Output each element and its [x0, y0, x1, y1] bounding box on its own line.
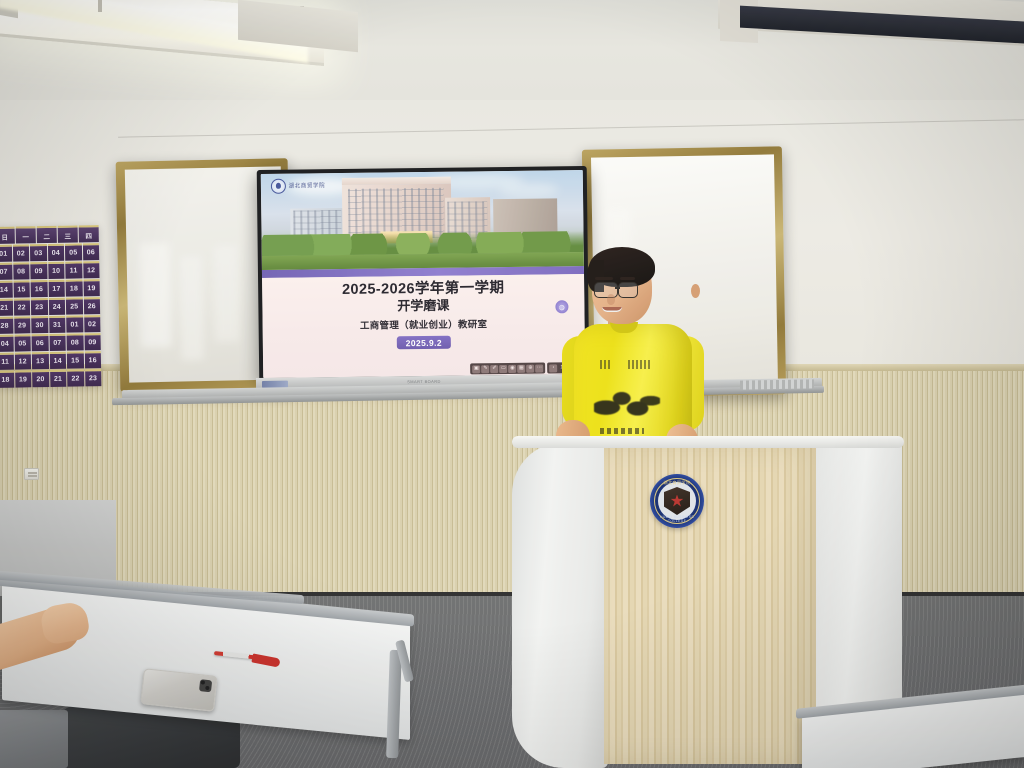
- wall-chart-cell: 23: [85, 369, 102, 386]
- slide-grid-icon[interactable]: ▦: [517, 364, 525, 372]
- student-desk-right[interactable]: [796, 688, 1024, 768]
- slide-title-line2: 开学磨课: [397, 298, 449, 314]
- presenter-mouth: [602, 307, 622, 312]
- wall-chart-cell: 05: [14, 334, 31, 351]
- wall-chart-row: 07 08 09 10 11 12: [0, 261, 100, 280]
- light-hanger-left: [98, 0, 102, 12]
- eyeglasses-lens-right: [618, 282, 638, 298]
- wall-chart-cell: 11: [0, 353, 14, 370]
- display-brand-text: SMART BOARD: [407, 379, 441, 384]
- lectern-front-panel: [604, 446, 820, 764]
- lectern-side-panel-left: [512, 442, 608, 768]
- wall-chart-cell: 03: [30, 244, 47, 261]
- smartphone[interactable]: [140, 668, 217, 712]
- wall-chart-row: 11 12 13 14 15 16: [0, 351, 101, 370]
- slide-title-line1: 2025-2026学年第一学期: [342, 280, 505, 299]
- wall-chart-cell: 05: [65, 243, 82, 260]
- wall-chart-header-cell: 二: [37, 226, 57, 243]
- desk-under-shelf: [0, 710, 68, 768]
- presenter-eyebrow-right: [620, 277, 635, 280]
- wall-chart-row: 14 15 16 17 18 19: [0, 279, 100, 298]
- presenter-nose: [607, 294, 615, 305]
- presentation-slide[interactable]: 湖北商贸学院 2025-2026学年第一学期 开学磨课 工商管理（就业创业）教研…: [261, 170, 585, 378]
- student-desk[interactable]: [0, 588, 424, 768]
- wall-chart-cell: 01: [0, 245, 12, 262]
- zoom-tool-icon[interactable]: ⊕: [526, 364, 534, 372]
- wall-chart-cell: 28: [0, 317, 13, 334]
- wall-chart-cell: 06: [31, 334, 48, 351]
- wall-chart-cell: 06: [82, 243, 99, 260]
- wall-chart-cell: 09: [30, 262, 47, 279]
- shirt-logo-left: [600, 360, 610, 369]
- emblem-star-icon: [671, 495, 684, 508]
- wall-chart-row: 28 29 30 31 01 02: [0, 315, 100, 334]
- university-logo-text: 湖北商贸学院: [289, 181, 326, 189]
- wall-power-outlet-left[interactable]: [24, 468, 39, 480]
- laser-tool-icon[interactable]: ◉: [508, 364, 516, 372]
- wall-chart-header-row: 日 一 二 三 四: [0, 225, 99, 244]
- smart-display[interactable]: 湖北商贸学院 2025-2026学年第一学期 开学磨课 工商管理（就业创业）教研…: [257, 166, 590, 382]
- avatar-badge-icon[interactable]: ◍: [555, 300, 568, 313]
- wall-chart-cell: 02: [12, 244, 29, 261]
- wall-chart-cell: 02: [84, 315, 101, 332]
- wall-chart-row: 21 22 23 24 25 26: [0, 297, 100, 316]
- classroom-scene: 日 一 二 三 四 01 02 03 04 05 06 07 08 09 10 …: [0, 0, 1024, 768]
- wall-chart-cell: 13: [32, 352, 49, 369]
- wall-chart-cell: 08: [13, 262, 30, 279]
- wall-chart-cell: 08: [66, 333, 83, 350]
- wall-chart-cell: 01: [66, 315, 83, 332]
- emblem-bottom-text: HUBEI BUSINESS COLLEGE: [650, 515, 704, 523]
- shirt-graphic-print: [594, 380, 660, 426]
- display-screen[interactable]: 湖北商贸学院 2025-2026学年第一学期 开学磨课 工商管理（就业创业）教研…: [261, 170, 585, 378]
- university-logo: 湖北商贸学院: [270, 178, 325, 194]
- wall-chart-cell: 12: [14, 352, 31, 369]
- wall-chart-cell: 22: [13, 298, 30, 315]
- wall-chart-cell: 23: [31, 298, 48, 315]
- desk-leg-right: [386, 650, 402, 758]
- wall-chart-cell: 04: [47, 244, 64, 261]
- wall-chart-cell: 14: [49, 352, 66, 369]
- wall-chart-cell: 19: [83, 279, 100, 296]
- wall-chart-cell: 11: [65, 261, 82, 278]
- wall-chart-cell: 22: [67, 369, 84, 386]
- wall-chart-header-cell: 三: [58, 225, 78, 242]
- wall-chart-header-cell: 四: [79, 225, 99, 242]
- shirt-logo-right: [628, 360, 652, 369]
- wall-chart-cell: 18: [0, 371, 14, 388]
- presenter-eyebrow-left: [595, 277, 613, 280]
- wall-chart-cell: 16: [31, 280, 48, 297]
- wall-chart-header-cell: 一: [16, 226, 36, 243]
- student-hand: [39, 600, 91, 645]
- wall-chart-cell: 14: [0, 281, 12, 298]
- wall-chart-cell: 29: [14, 316, 31, 333]
- wall-chart-cell: 07: [0, 263, 12, 280]
- wall-chart-cell: 04: [0, 335, 13, 352]
- wall-chart-row: 04 05 06 07 08 09: [0, 333, 101, 352]
- highlighter-tool-icon[interactable]: ✐: [490, 365, 498, 373]
- student-arm: [0, 600, 100, 680]
- wall-chart-cell: 25: [66, 297, 83, 314]
- wall-chart-cell: 24: [48, 298, 65, 315]
- wall-chart-cell: 21: [50, 370, 67, 387]
- pen-tool-icon[interactable]: ✎: [481, 365, 489, 373]
- wall-chart-cell: 30: [31, 316, 48, 333]
- pointer-tool-icon[interactable]: ▣: [472, 365, 480, 373]
- wall-chart-cell: 09: [84, 333, 101, 350]
- wall-chart-cell: 31: [49, 316, 66, 333]
- wall-chart-header-cell: 日: [0, 227, 15, 244]
- wall-chart-cell: 20: [32, 370, 49, 387]
- wall-chart-cell: 12: [83, 261, 100, 278]
- emblem-top-text: 湖北商贸学院: [650, 480, 704, 486]
- slide-department: 工商管理（就业创业）教研室: [360, 316, 488, 332]
- university-emblem: 湖北商贸学院 HUBEI BUSINESS COLLEGE: [650, 474, 704, 528]
- whiteboard-left-glare-3: [213, 245, 239, 341]
- classroom-duty-calendar[interactable]: 日 一 二 三 四 01 02 03 04 05 06 07 08 09 10 …: [0, 225, 101, 388]
- more-options-icon[interactable]: ⋯: [535, 364, 543, 372]
- wall-chart-cell: 26: [83, 297, 100, 314]
- prev-slide-icon[interactable]: ‹: [549, 364, 557, 372]
- wall-chart-cell: 21: [0, 299, 13, 316]
- whiteboard-left-glare-2: [180, 256, 204, 360]
- eraser-tool-icon[interactable]: ▭: [499, 364, 507, 372]
- wall-chart-cell: 15: [13, 280, 30, 297]
- smartphone-camera-icon: [199, 679, 212, 692]
- slide-text-area: 2025-2026学年第一学期 开学磨课 工商管理（就业创业）教研室 2025.…: [262, 274, 585, 378]
- whiteboard-left-glare: [139, 243, 171, 348]
- wall-chart-cell: 17: [48, 280, 65, 297]
- shirt-graphic-subtext: [600, 428, 644, 434]
- wall-chart-cell: 19: [15, 370, 32, 387]
- slide-date-badge: 2025.9.2: [397, 336, 451, 350]
- eyeglasses-bridge: [615, 287, 620, 289]
- wall-chart-cell: 18: [66, 279, 83, 296]
- wall-chart-row: 18 19 20 21 22 23: [0, 369, 101, 388]
- wall-chart-cell: 10: [48, 262, 65, 279]
- wall-chart-cell: 16: [84, 351, 101, 368]
- board-ledge-buttons[interactable]: [740, 379, 814, 389]
- university-seal-icon: [270, 178, 285, 193]
- slide-hero-photo: 湖北商贸学院: [261, 170, 584, 270]
- presentation-tool-group[interactable]: ▣ ✎ ✐ ▭ ◉ ▦ ⊕ ⋯: [470, 363, 545, 375]
- lectern-top-surface: [512, 436, 904, 448]
- presenter-ear: [691, 284, 700, 298]
- wall-chart-cell: 07: [49, 334, 66, 351]
- wall-chart-row: 01 02 03 04 05 06: [0, 243, 99, 262]
- wall-chart-cell: 15: [67, 351, 84, 368]
